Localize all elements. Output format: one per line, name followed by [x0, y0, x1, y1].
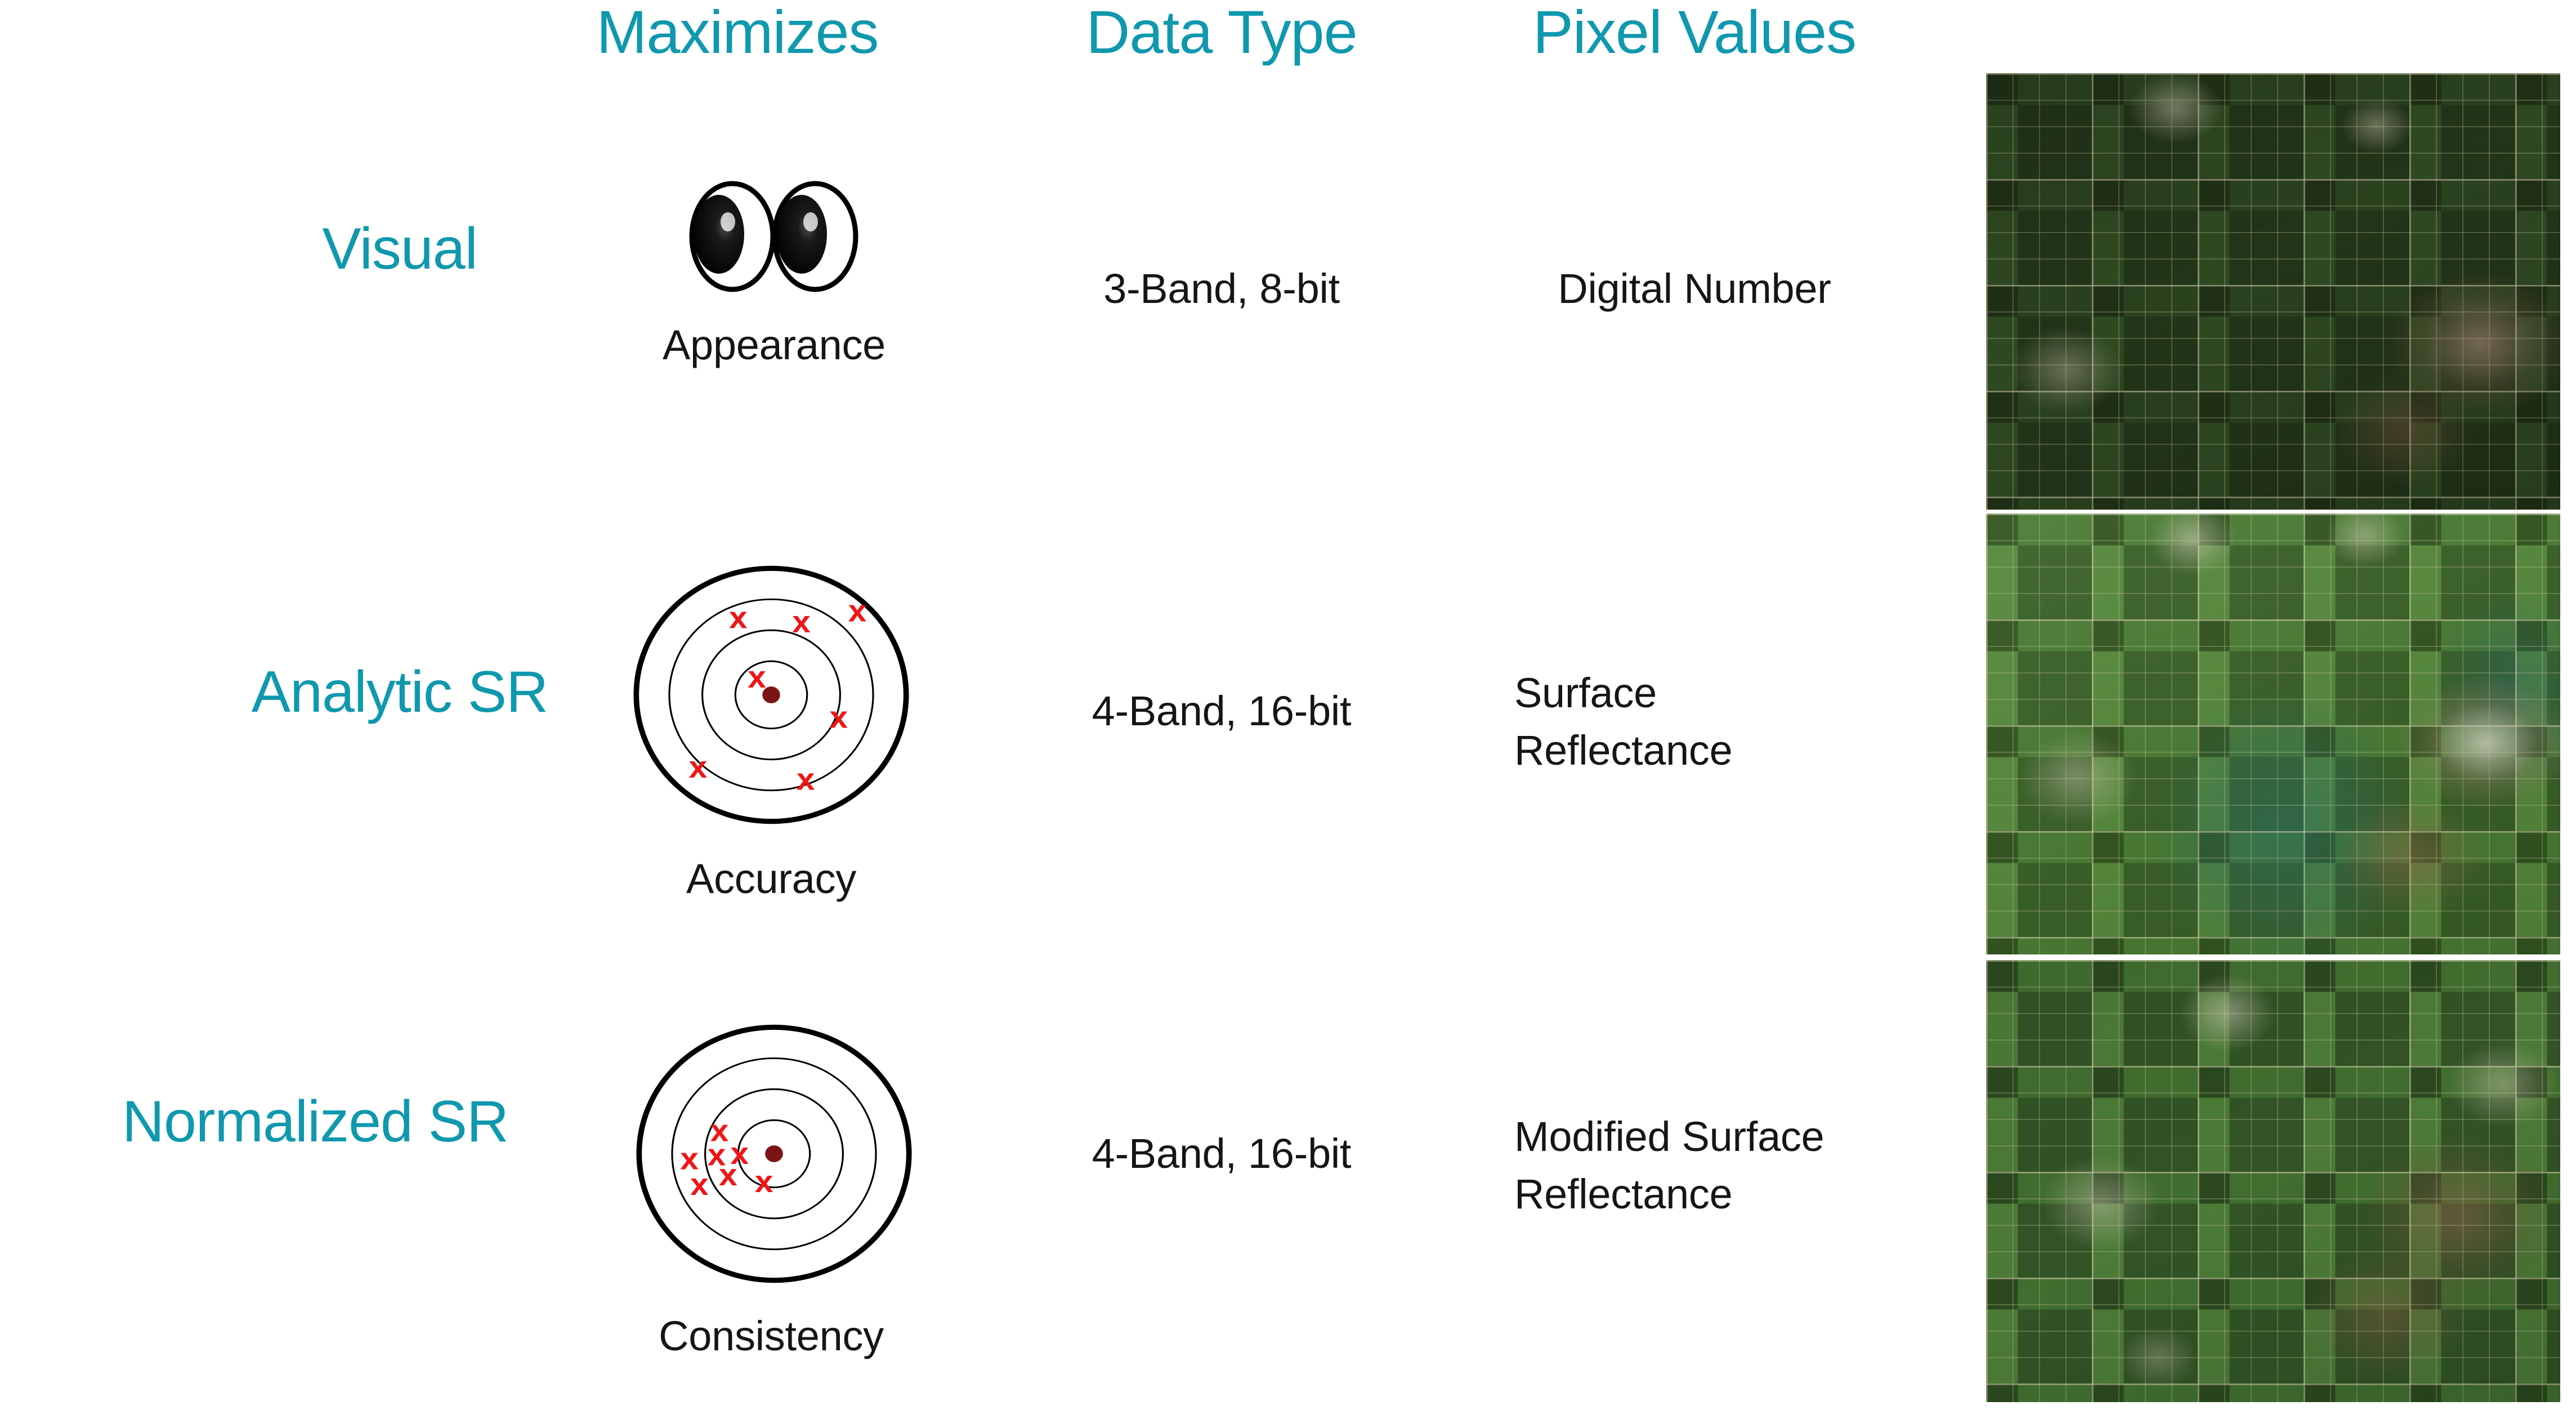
- target-consistency-icon: x x x x x x x: [630, 1019, 918, 1288]
- svg-text:x: x: [729, 601, 748, 635]
- svg-text:x: x: [797, 762, 815, 797]
- cell-normalized-pixel-values: Modified Surface Reflectance: [1514, 1108, 2038, 1223]
- icon-caption-accuracy: Accuracy: [580, 855, 963, 903]
- row-label-normalized-sr: Normalized SR: [17, 1091, 614, 1153]
- svg-text:x: x: [755, 1165, 773, 1199]
- column-header-pixel-values: Pixel Values: [1452, 0, 1937, 64]
- row-label-visual: Visual: [186, 218, 614, 280]
- svg-text:x: x: [748, 660, 766, 694]
- preview-shade-overlay: [1986, 514, 2560, 954]
- svg-text:x: x: [719, 1158, 737, 1193]
- svg-text:x: x: [830, 700, 848, 735]
- svg-text:x: x: [689, 751, 708, 785]
- column-header-data-type: Data Type: [1025, 0, 1419, 64]
- cell-normalized-data-type: 4-Band, 16-bit: [1025, 1125, 1419, 1182]
- preview-image-visual: [1986, 73, 2560, 510]
- cell-analytic-data-type: 4-Band, 16-bit: [1025, 682, 1419, 740]
- eyes-icon: [678, 180, 870, 293]
- cell-normalized-pixel-values-line-2: Reflectance: [1514, 1166, 2038, 1223]
- cell-analytic-pixel-values: Surface Reflectance: [1514, 664, 1998, 779]
- preview-image-normalized: [1986, 960, 2560, 1402]
- svg-text:x: x: [690, 1168, 709, 1202]
- svg-text:x: x: [792, 605, 811, 639]
- cell-analytic-pixel-values-line-1: Surface: [1514, 664, 1998, 722]
- svg-text:x: x: [848, 594, 867, 628]
- target-accuracy-icon: x x x x x x x: [628, 560, 915, 829]
- cell-visual-pixel-values: Digital Number: [1452, 260, 1937, 318]
- preview-shade-overlay: [1986, 960, 2560, 1402]
- row-label-analytic-sr: Analytic SR: [113, 662, 687, 723]
- cell-visual-data-type: 3-Band, 8-bit: [1025, 260, 1419, 318]
- preview-image-analytic: [1986, 514, 2560, 954]
- preview-shade-overlay: [1986, 73, 2560, 510]
- cell-normalized-pixel-values-line-1: Modified Surface: [1514, 1108, 2038, 1166]
- icon-caption-appearance: Appearance: [583, 321, 965, 369]
- column-header-maximizes: Maximizes: [540, 0, 934, 64]
- cell-analytic-pixel-values-line-2: Reflectance: [1514, 722, 1998, 779]
- icon-caption-consistency: Consistency: [580, 1312, 963, 1360]
